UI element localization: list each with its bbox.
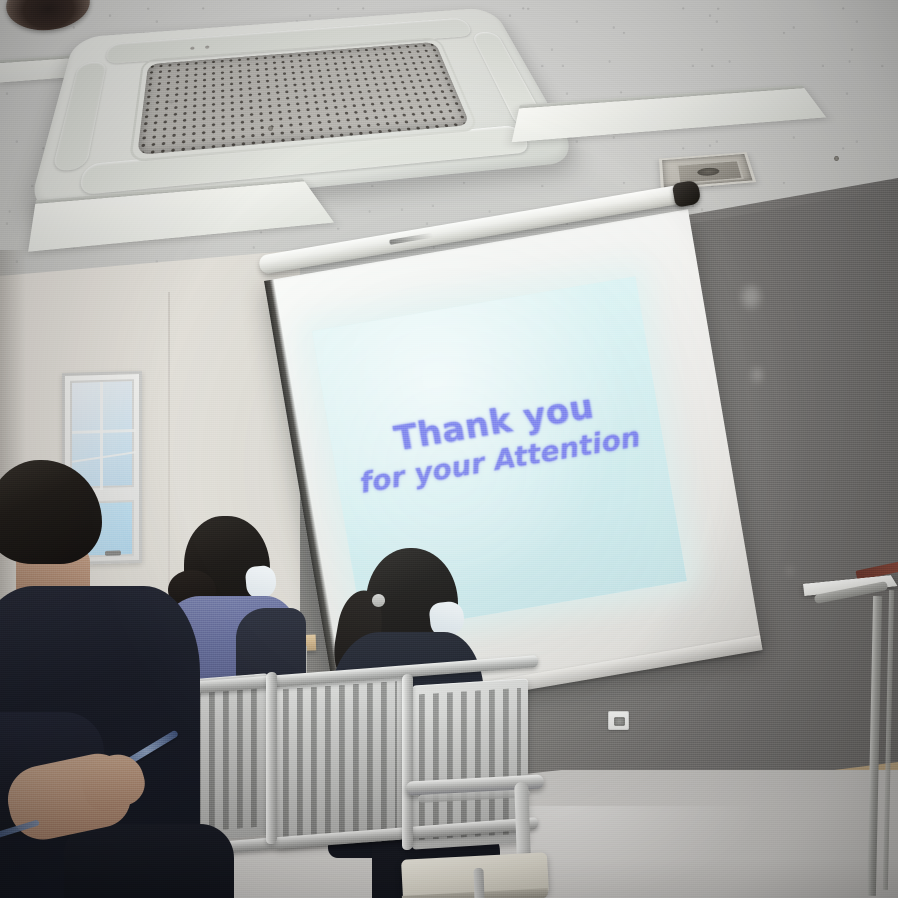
person-1-hair [0,460,102,564]
person-3-hair-tie [372,594,385,607]
person-1-lap [64,824,234,898]
outlet-socket [614,717,625,726]
person-1-foreground [0,460,230,898]
chair-back-panel [276,672,404,849]
chair-divider [402,674,413,851]
wall-power-outlet[interactable] [608,711,629,730]
wall-smudge [752,368,762,382]
ceiling-screw [834,156,839,161]
window-mullion [72,429,136,434]
chair-divider [266,672,277,845]
ceiling-screw [268,126,273,131]
lectern [800,560,898,898]
lectern-post-secondary [883,590,894,890]
wall-smudge [742,286,760,308]
chair-perforation-pattern [283,681,397,839]
seminar-room-photo: Thank you for your Attention [0,0,898,898]
lectern-post [867,596,882,896]
wall-smudge [786,566,794,576]
chair-leg [473,868,484,898]
person-2-face-mask [245,565,278,599]
chair-perforation-pattern [419,688,521,840]
